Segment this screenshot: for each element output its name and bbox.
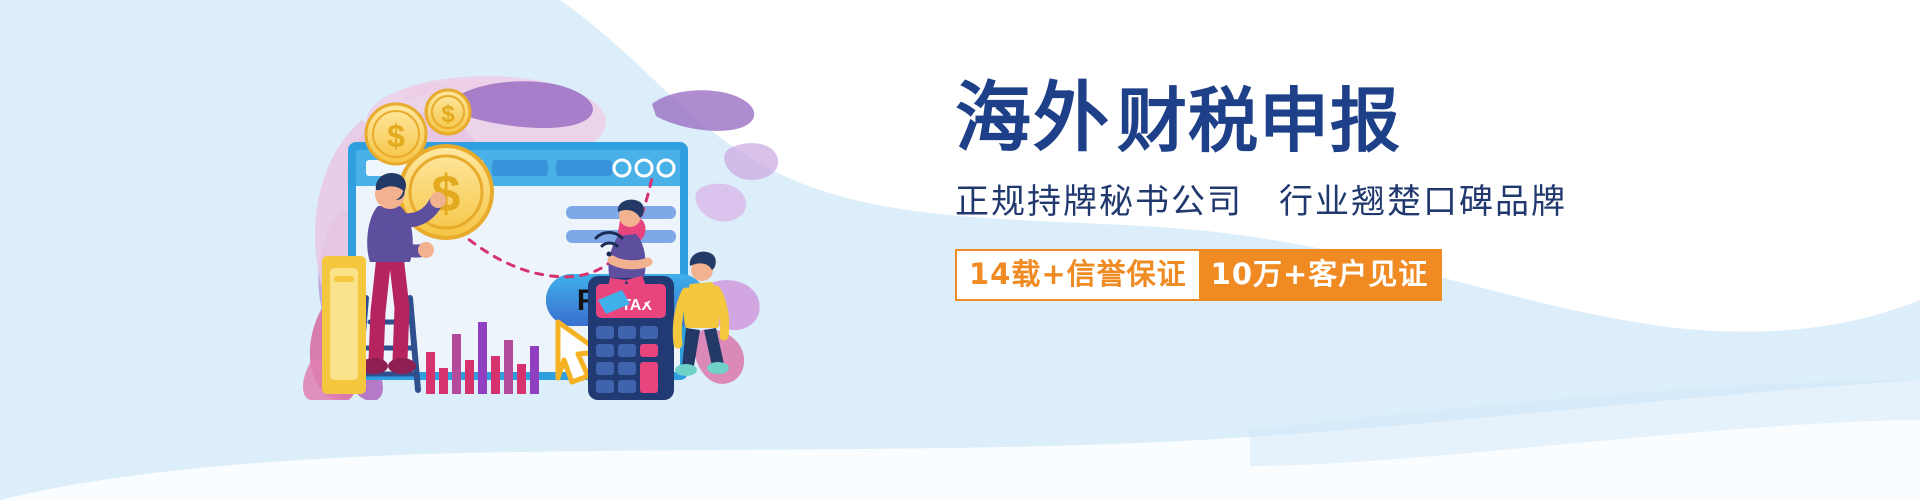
banner-root: FILING $ (0, 0, 1920, 500)
banner-text-block: 海外 财税申报 正规持牌秘书公司 行业翘楚口碑品牌 14载+信誉保证 10万+客… (955, 80, 1775, 301)
banner-subtitle: 正规持牌秘书公司 行业翘楚口碑品牌 (955, 174, 1775, 223)
hero-illustration: FILING $ (300, 60, 780, 400)
headline-part-2: 财税申报 (1117, 86, 1401, 156)
svg-text:$: $ (441, 101, 455, 128)
headline-part-1: 海外 (955, 80, 1111, 156)
page-title: 海外 财税申报 (955, 80, 1775, 156)
coin-small: $ (426, 90, 470, 134)
status-badge-credit: 14载+信誉保证 (955, 249, 1199, 301)
file-folder (322, 256, 366, 394)
calculator-device: TAX (588, 276, 674, 400)
svg-text:$: $ (387, 118, 405, 154)
badge-group: 14载+信誉保证 10万+客户见证 (955, 249, 1775, 301)
status-badge-customers: 10万+客户见证 (1199, 249, 1443, 301)
